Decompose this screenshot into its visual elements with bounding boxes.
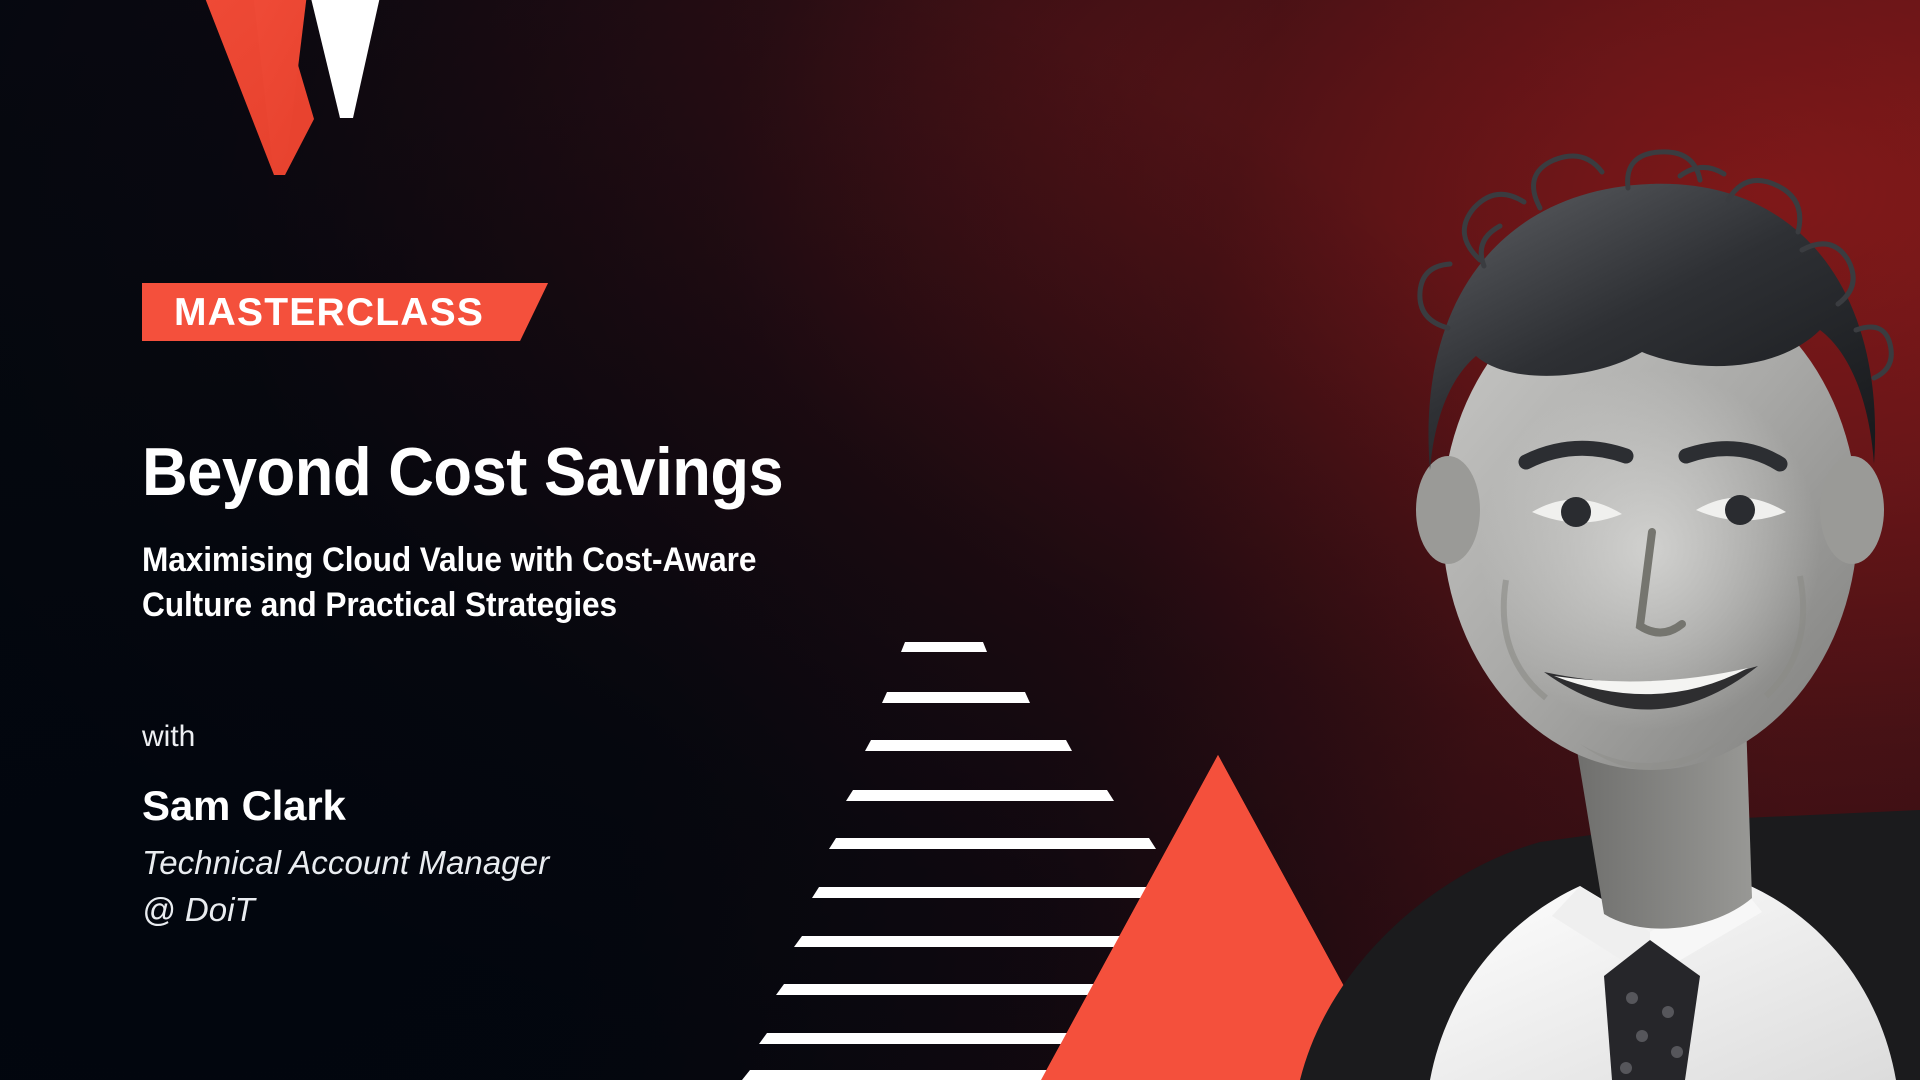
with-label: with (142, 722, 195, 752)
portrait-ear-left (1416, 456, 1480, 564)
masterclass-badge: MASTERCLASS (142, 283, 548, 341)
page-title: Beyond Cost Savings (142, 438, 783, 507)
content-column: MASTERCLASS Beyond Cost Savings Maximisi… (142, 0, 1042, 1080)
speaker-name: Sam Clark (142, 785, 346, 827)
speaker-role-line-1: Technical Account Manager (142, 840, 549, 887)
subtitle-line-1: Maximising Cloud Value with Cost-Aware (142, 538, 914, 583)
masterclass-badge-label: MASTERCLASS (174, 293, 484, 332)
page-subtitle: Maximising Cloud Value with Cost-Aware C… (142, 538, 914, 628)
portrait-ear-right (1820, 456, 1884, 564)
subtitle-line-2: Culture and Practical Strategies (142, 583, 914, 628)
speaker-portrait (1180, 80, 1920, 1080)
speaker-role-line-2: @ DoiT (142, 887, 549, 934)
speaker-role: Technical Account Manager @ DoiT (142, 840, 549, 934)
promo-banner: MASTERCLASS Beyond Cost Savings Maximisi… (0, 0, 1920, 1080)
